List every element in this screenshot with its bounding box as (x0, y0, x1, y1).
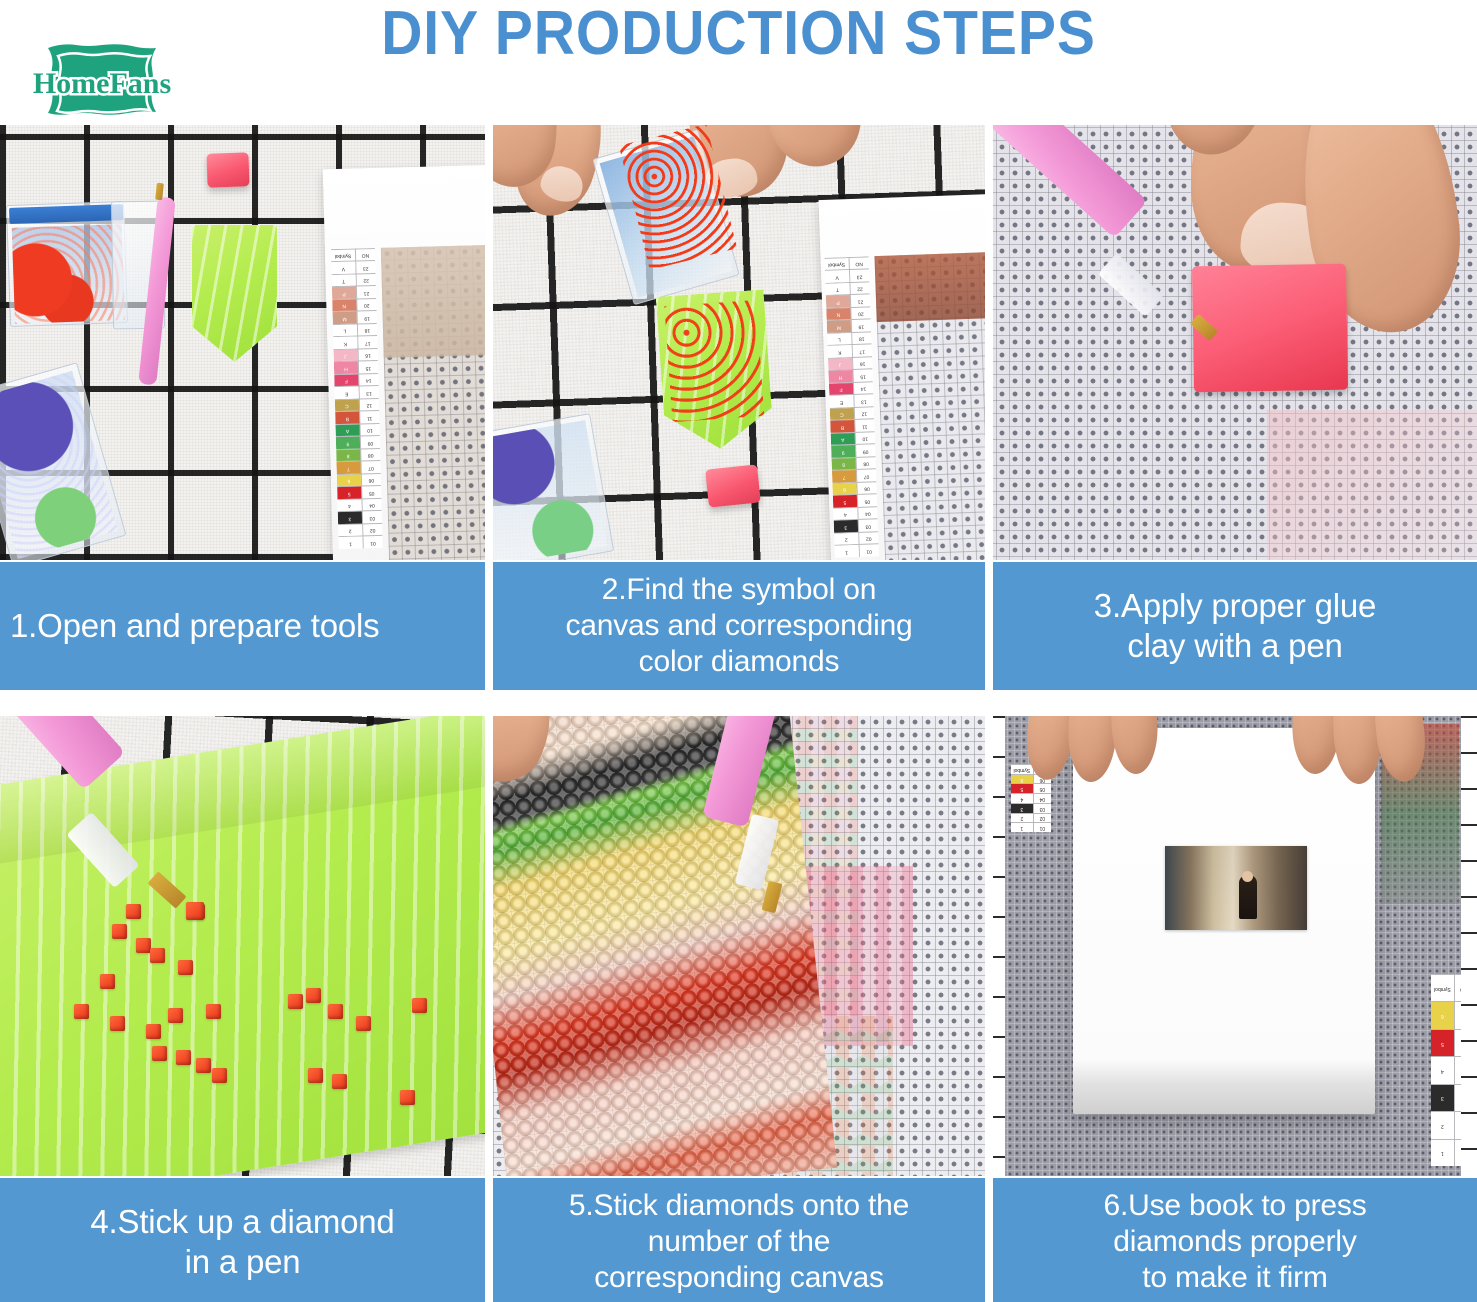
legend-no: 04 (1033, 794, 1051, 803)
legend-row: 16J (828, 356, 872, 370)
legend-symbol: 9 (831, 445, 855, 457)
legend-no: 04 (857, 507, 878, 519)
legend-row: 055 (833, 494, 877, 508)
legend-symbol: B (335, 412, 359, 424)
legend-no: 12 (854, 407, 875, 419)
legend-row: 18L (333, 323, 377, 337)
legend-header-no: NO (848, 257, 869, 269)
canvas-preview-top (874, 252, 985, 322)
legend-no: 01 (1033, 823, 1051, 832)
bag-seal (9, 204, 123, 224)
legend-header-symbol: Symbol (1011, 765, 1033, 774)
legend-symbol: 3 (1431, 1085, 1454, 1111)
row-spacer (0, 690, 1477, 716)
legend-no: 23 (849, 270, 870, 282)
legend-row: 088 (831, 456, 875, 470)
legend-row: 022 (834, 531, 878, 545)
legend-row: 10A (831, 431, 875, 445)
legend-row: 011 (338, 535, 382, 549)
legend-header-row: NOSymbol (825, 256, 869, 270)
legend-no: 03 (857, 520, 878, 532)
legend-header-symbol: Symbol (1431, 975, 1454, 1001)
legend-no: 14 (853, 382, 874, 394)
legend-symbol: 2 (338, 524, 362, 536)
legend-header-no: NO (355, 249, 376, 261)
legend-symbol: L (333, 325, 357, 337)
legend-symbol: A (336, 424, 360, 436)
photo-press-with-book: 011022033044055066NOSymbol 0110220330440… (993, 716, 1477, 1176)
legend-symbol: 2 (1431, 1112, 1454, 1138)
legend-no: 11 (359, 411, 380, 423)
gutter (485, 125, 493, 560)
diamond-on-pen-tip (186, 902, 204, 920)
legend-symbol: P (826, 296, 850, 308)
legend-symbol: 6 (1431, 1002, 1454, 1028)
gutter (985, 562, 993, 690)
legend-no: 03 (362, 511, 383, 523)
legend-symbol: 2 (1011, 814, 1033, 823)
legend-no: 15 (852, 370, 873, 382)
legend-no: 10 (359, 424, 380, 436)
legend-row: 044 (833, 506, 877, 520)
legend-no: 23 (355, 262, 376, 274)
legend-no: 05 (361, 486, 382, 498)
photo-find-symbol-and-color: 01102203304405506607708809910A11B12C13E1… (493, 125, 985, 560)
legend-row: 12C (335, 398, 379, 412)
legend-symbol: H (828, 371, 852, 383)
legend-no: 22 (849, 282, 870, 294)
legend-no: 02 (1033, 814, 1051, 823)
glue-clay-square (705, 464, 761, 507)
legend-symbol: 6 (832, 483, 856, 495)
legend-row: 20N (332, 298, 376, 312)
legend-no: 06 (856, 482, 877, 494)
legend-no: 19 (850, 320, 871, 332)
legend-row: 011 (835, 544, 879, 558)
legend-row: 10A (335, 423, 379, 437)
canvas-pink-area (1267, 410, 1477, 560)
legend-no: 15 (358, 361, 379, 373)
legend-symbol: 8 (832, 458, 856, 470)
legend-row: 066 (337, 473, 381, 487)
legend-symbol: T (825, 283, 849, 295)
glue-clay-square (206, 152, 249, 187)
legend-symbol: 7 (336, 462, 360, 474)
page-title: DIY PRODUCTION STEPS (59, 0, 1418, 72)
legend-symbol: 3 (338, 512, 362, 524)
legend-symbol: E (335, 387, 359, 399)
red-drills-in-tray (664, 300, 764, 422)
legend-symbol: 5 (337, 487, 361, 499)
legend-rows: 01102203304405506607708809910A11B12C13E1… (331, 248, 383, 549)
legend-header-symbol: Symbol (331, 250, 355, 262)
legend-symbol: 4 (337, 499, 361, 511)
legend-symbol: 3 (1011, 804, 1033, 813)
legend-no: 21 (850, 295, 871, 307)
canvas-preview-top (381, 245, 485, 358)
legend-no: 22 (355, 274, 376, 286)
legend-no: 08 (360, 449, 381, 461)
legend-no: 08 (855, 457, 876, 469)
legend-symbol: N (826, 308, 850, 320)
legend-symbol: 4 (1011, 794, 1033, 803)
legend-symbol: B (830, 420, 854, 432)
legend-row: 011 (1011, 822, 1051, 832)
legend-header-row: NOSymbol (331, 248, 375, 262)
legend-symbol: N (332, 300, 356, 312)
legend-symbol: V (331, 262, 355, 274)
legend-no: 13 (358, 386, 379, 398)
figure-head (1242, 871, 1253, 882)
legend-no: 20 (850, 307, 871, 319)
legend-no: 18 (851, 332, 872, 344)
legend-symbol: F (829, 383, 853, 395)
gutter (485, 1178, 493, 1302)
legend-no: 09 (855, 445, 876, 457)
legend-row: 055 (337, 485, 381, 499)
legend-symbol: 1 (1011, 823, 1033, 832)
caption-step-6: 6.Use book to press diamonds properly to… (993, 1178, 1477, 1302)
legend-symbol: 1 (1431, 1140, 1454, 1166)
legend-row: 17K (828, 344, 872, 358)
legend-symbol: K (828, 346, 852, 358)
legend-no: 01 (362, 536, 383, 548)
legend-no: 17 (851, 345, 872, 357)
legend-row: 022 (1011, 813, 1051, 823)
legend-no: 09 (360, 436, 381, 448)
photo-stick-diamonds-onto-canvas (493, 716, 985, 1176)
caption-step-2: 2.Find the symbol on canvas and correspo… (493, 562, 985, 690)
reference-photo-thumbnail (1165, 846, 1307, 930)
legend-row: 033 (834, 519, 878, 533)
legend-symbol: 1 (338, 537, 362, 549)
legend-no: 17 (357, 336, 378, 348)
legend-row: 19M (333, 311, 377, 325)
legend-no: 05 (857, 495, 878, 507)
legend-no: 16 (357, 349, 378, 361)
legend-no: 05 (1033, 784, 1051, 793)
legend-symbol: 5 (1011, 784, 1033, 793)
legend-symbol: 9 (336, 437, 360, 449)
legend-no: 21 (356, 287, 377, 299)
legend-no: 10 (854, 432, 875, 444)
legend-row: 099 (336, 435, 380, 449)
legend-symbol: F (334, 375, 358, 387)
caption-step-4: 4.Stick up a diamond in a pen (0, 1178, 485, 1302)
legend-row: 15H (828, 369, 872, 383)
legend-symbol: 1 (835, 545, 859, 557)
legend-header-symbol: Symbol (825, 258, 849, 270)
symbol-legend-table: 01102203304405506607708809910A11B12C13E1… (331, 248, 383, 549)
canvas-sheet: 01102203304405506607708809910A11B12C13E1… (323, 165, 485, 560)
legend-row: 033 (338, 510, 382, 524)
legend-symbol: H (334, 362, 358, 374)
legend-row: 20N (826, 306, 870, 320)
caption-step-3: 3.Apply proper glue clay with a pen (993, 562, 1477, 690)
legend-row: 033 (1011, 803, 1051, 813)
canvas-sheet: 01102203304405506607708809910A11B12C13E1… (818, 194, 985, 560)
legend-row: 022 (338, 523, 382, 537)
legend-row: 15H (334, 360, 378, 374)
legend-symbol: 7 (832, 470, 856, 482)
photo-open-and-prepare-tools: 01102203304405506607708809910A11B12C13E1… (0, 125, 485, 560)
legend-row: 066 (832, 481, 876, 495)
legend-row: 11B (830, 419, 874, 433)
ruler-left (993, 716, 1005, 1176)
legend-symbol: P (332, 287, 356, 299)
legend-row: 23V (825, 269, 869, 283)
header: HomeFans DIY PRODUCTION STEPS (0, 0, 1477, 125)
legend-no: 20 (356, 299, 377, 311)
legend-symbol: 8 (336, 449, 360, 461)
legend-symbol: 5 (1431, 1030, 1454, 1056)
legend-no: 16 (852, 357, 873, 369)
legend-row: 044 (1011, 793, 1051, 803)
legend-symbol: 6 (1011, 775, 1033, 784)
photo-apply-glue-clay (993, 125, 1477, 560)
legend-symbol: C (335, 400, 359, 412)
diamond-bead-highlights (493, 716, 837, 1176)
legend-no: 12 (359, 399, 380, 411)
legend-row: 16J (334, 348, 378, 362)
legend-no: 11 (854, 420, 875, 432)
legend-no: 02 (858, 532, 879, 544)
legend-row: 17K (333, 335, 377, 349)
legend-symbol: K (333, 337, 357, 349)
blue-green-drills (493, 420, 607, 560)
legend-row: 13E (334, 385, 378, 399)
legend-row: 044 (337, 498, 381, 512)
steps-grid: 01102203304405506607708809910A11B12C13E1… (0, 125, 1477, 1302)
legend-no: 13 (853, 395, 874, 407)
legend-no: 14 (358, 374, 379, 386)
legend-row: 14F (334, 373, 378, 387)
legend-row: 12C (830, 406, 874, 420)
legend-symbol: L (827, 333, 851, 345)
legend-symbol: 2 (834, 533, 858, 545)
legend-no: 18 (357, 324, 378, 336)
legend-row: 19M (827, 319, 871, 333)
legend-row: 21P (826, 294, 870, 308)
legend-no: 04 (361, 499, 382, 511)
gutter (485, 716, 493, 1176)
legend-symbol: 4 (833, 508, 857, 520)
pressing-book (1073, 728, 1375, 1114)
legend-no: 07 (856, 470, 877, 482)
legend-symbol: T (332, 275, 356, 287)
legend-symbol: A (831, 433, 855, 445)
legend-row: 077 (832, 469, 876, 483)
legend-symbol: J (334, 350, 358, 362)
legend-symbol: M (333, 312, 357, 324)
legend-row: 088 (336, 448, 380, 462)
legend-rows: 01102203304405506607708809910A11B12C13E1… (825, 256, 879, 557)
legend-no: 03 (1033, 804, 1051, 813)
legend-symbol: 5 (833, 495, 857, 507)
gutter (985, 716, 993, 1176)
legend-row: 077 (336, 460, 380, 474)
gutter (985, 1178, 993, 1302)
legend-row: 099 (831, 444, 875, 458)
legend-no: 07 (360, 461, 381, 473)
legend-row: 14F (829, 381, 873, 395)
legend-symbol: M (827, 321, 851, 333)
legend-symbol: V (825, 271, 849, 283)
bead-bag-red (6, 201, 128, 327)
legend-symbol: C (830, 408, 854, 420)
caption-step-5: 5.Stick diamonds onto the number of the … (493, 1178, 985, 1302)
caption-step-1: 1.Open and prepare tools (0, 562, 485, 690)
legend-row: 13E (829, 394, 873, 408)
legend-row: 23V (331, 261, 375, 275)
ruler-right (1461, 716, 1477, 1176)
legend-row: 055 (1011, 783, 1051, 793)
legend-symbol: E (829, 395, 853, 407)
legend-symbol: 3 (834, 520, 858, 532)
symbol-legend-table: 01102203304405506607708809910A11B12C13E1… (825, 256, 879, 557)
legend-symbol: J (828, 358, 852, 370)
photo-stick-up-diamond-in-pen (0, 716, 485, 1176)
gutter (485, 562, 493, 690)
legend-no: 01 (858, 545, 879, 557)
green-drill-tray (0, 716, 485, 1176)
legend-row: 11B (335, 410, 379, 424)
legend-row: 22T (332, 273, 376, 287)
legend-no: 19 (356, 312, 377, 324)
legend-no: 02 (362, 524, 383, 536)
diy-steps-infographic: HomeFans DIY PRODUCTION STEPS (0, 0, 1477, 1302)
legend-row: 18L (827, 331, 871, 345)
red-diamond-drills (12, 224, 125, 324)
legend-symbol: 4 (1431, 1057, 1454, 1083)
legend-no: 06 (361, 474, 382, 486)
legend-row: 22T (825, 281, 869, 295)
legend-row: 21P (332, 286, 376, 300)
gutter (985, 125, 993, 560)
legend-symbol: 6 (337, 474, 361, 486)
